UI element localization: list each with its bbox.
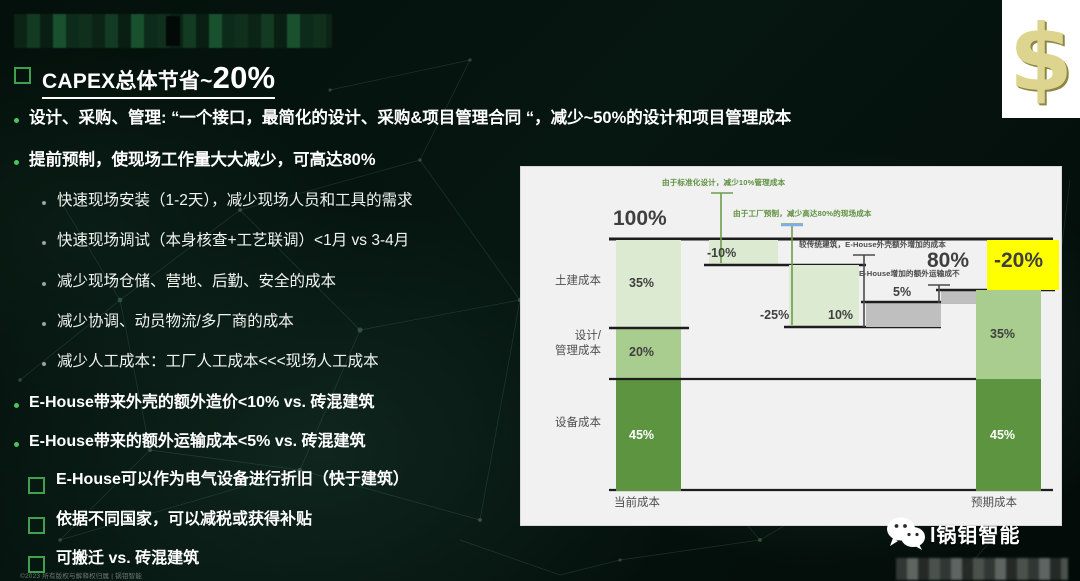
- gray-dot-bullet-icon: [42, 282, 46, 286]
- bullet-item: E-House可以作为电气设备进行折旧（快于建筑）: [28, 470, 548, 494]
- bullet-text: E-House带来的额外运输成本<5% vs. 砖混建筑: [29, 432, 366, 452]
- bullet-item: E-House带来的额外运输成本<5% vs. 砖混建筑: [14, 432, 534, 452]
- chart-xaxis-label-expected: 预期成本: [971, 494, 1017, 510]
- heading-text: CAPEX总体节省~: [42, 70, 213, 93]
- green-dot-bullet-icon: [14, 403, 19, 408]
- gray-dot-bullet-icon: [42, 362, 46, 366]
- gray-dot-bullet-icon: [42, 322, 46, 326]
- chart-annotation: 较传统建筑，E-House外壳额外增加的成本: [799, 239, 946, 250]
- sub-bullet-text: 减少人工成本：工厂人工成本<<<现场人工成本: [57, 352, 379, 371]
- sub-bullet-text: 快速现场调试（本身核查+工艺联调）<1月 vs 3-4月: [57, 231, 409, 250]
- bullet-text: 可搬迁 vs. 砖混建筑: [56, 549, 199, 569]
- slide-text-column: CAPEX总体节省~20% 设计、采购、管理: “一个接口，最简化的设计、采购&…: [0, 0, 540, 581]
- bar-step-plus10: [866, 302, 941, 327]
- slide-canvas: CAPEX总体节省~20% 设计、采购、管理: “一个接口，最简化的设计、采购&…: [0, 0, 1080, 581]
- sub-bullet-item: 快速现场调试（本身核查+工艺联调）<1月 vs 3-4月: [42, 231, 532, 250]
- bar-label-end-design: 35%: [990, 327, 1015, 341]
- chart-annotation: 由于标准化设计，减少10%管理成本: [662, 177, 785, 188]
- dollar-sign-icon: $: [1002, 0, 1080, 118]
- wechat-icon: [886, 516, 926, 550]
- chart-annotation: 由于工厂预制，减少高达80%的现场成本: [733, 208, 872, 219]
- bar-label-step-plus10: 10%: [828, 308, 853, 322]
- slide-footnote: ©2023 所有版权与解释权归属 | 锅钼智能: [20, 570, 142, 580]
- bullet-text: 依据不同国家，可以减税或获得补贴: [56, 510, 312, 530]
- bar-label-start-equipment: 45%: [629, 428, 654, 442]
- bar-label-start-design: 20%: [629, 345, 654, 359]
- redacted-title-block: [14, 14, 332, 48]
- chart-delta-label: -20%: [994, 249, 1043, 273]
- sub-bullet-item: 快速现场安装（1-2天），减少现场人员和工具的需求: [42, 191, 532, 210]
- bullet-text: E-House可以作为电气设备进行折旧（快于建筑）: [56, 470, 409, 490]
- bullet-text: E-House带来外壳的额外造价<10% vs. 砖混建筑: [29, 393, 374, 413]
- bar-label-step-minus10: -10%: [707, 246, 736, 260]
- sub-bullet-text: 减少现场仓储、营地、后勤、安全的成本: [57, 272, 336, 291]
- chart-total-start: 100%: [613, 207, 667, 231]
- gray-dot-bullet-icon: [42, 241, 46, 245]
- heading-big-number: 20%: [213, 60, 276, 95]
- bullet-item: 提前预制，使现场工作量大大减少，可高达80%: [14, 150, 534, 171]
- chart-row-label-equipment: 设备成本: [527, 417, 601, 430]
- watermark: l锅钼智能: [886, 516, 1021, 550]
- bullet-item: 依据不同国家，可以减税或获得补贴: [28, 510, 548, 534]
- waterfall-chart-panel: 由于标准化设计，减少10%管理成本 由于工厂预制，减少高达80%的现场成本 较传…: [520, 166, 1062, 526]
- bar-label-step-plus5: 5%: [893, 285, 911, 299]
- green-square-bullet-icon: [28, 517, 45, 534]
- bullet-item: E-House带来外壳的额外造价<10% vs. 砖混建筑: [14, 393, 534, 413]
- bar-label-start-civil: 35%: [629, 276, 654, 290]
- green-dot-bullet-icon: [14, 118, 19, 123]
- chart-row-label-design-1: 设计/: [527, 330, 601, 343]
- bullet-item: 设计、采购、管理: “一个接口，最简化的设计、采购&项目管理合同 “，减少~50…: [14, 108, 1054, 129]
- sub-bullet-item: 减少现场仓储、营地、后勤、安全的成本: [42, 272, 532, 291]
- watermark-text: l锅钼智能: [930, 519, 1021, 548]
- sub-bullet-text: 减少协调、动员物流/多厂商的成本: [57, 312, 294, 331]
- sub-bullet-text: 快速现场安装（1-2天），减少现场人员和工具的需求: [57, 191, 413, 210]
- chart-row-label-civil: 土建成本: [527, 275, 601, 288]
- sub-bullet-item: 减少协调、动员物流/多厂商的成本: [42, 312, 532, 331]
- bar-label-step-minus25: -25%: [760, 308, 789, 322]
- green-square-bullet-icon: [14, 67, 31, 84]
- green-square-bullet-icon: [28, 477, 45, 494]
- gray-dot-bullet-icon: [42, 201, 46, 205]
- heading-capex-saving: CAPEX总体节省~20%: [14, 60, 514, 99]
- green-dot-bullet-icon: [14, 160, 19, 165]
- bar-label-end-equipment: 45%: [990, 428, 1015, 442]
- chart-row-label-design-2: 管理成本: [527, 345, 601, 358]
- watermark-blurred-subtext: [896, 558, 1068, 580]
- chart-total-end: 80%: [927, 249, 969, 273]
- sub-bullet-item: 减少人工成本：工厂人工成本<<<现场人工成本: [42, 352, 542, 371]
- bullet-text: 设计、采购、管理: “一个接口，最简化的设计、采购&项目管理合同 “，减少~50…: [29, 108, 791, 129]
- bullet-text: 提前预制，使现场工作量大大减少，可高达80%: [29, 150, 376, 171]
- green-dot-bullet-icon: [14, 442, 19, 447]
- waterfall-chart-svg: [521, 167, 1061, 525]
- chart-xaxis-label-current: 当前成本: [614, 494, 660, 510]
